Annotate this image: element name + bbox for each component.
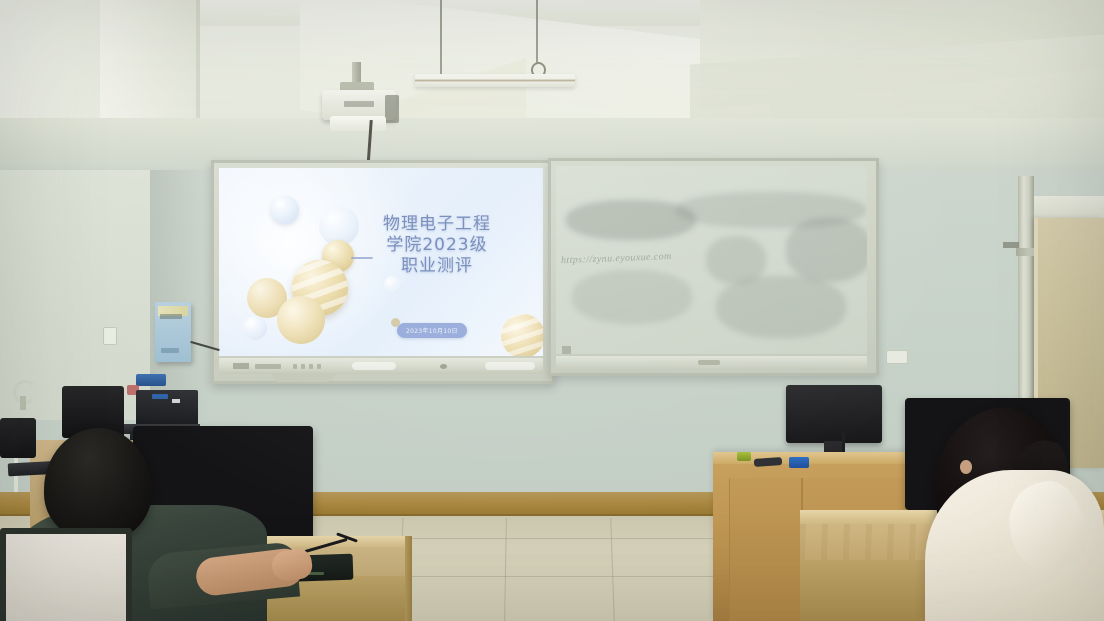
board-button-4[interactable] <box>309 364 313 369</box>
board-bottom-bulge <box>271 373 335 382</box>
podium-monitor[interactable] <box>786 385 882 443</box>
control-box-brand-logo <box>161 348 179 353</box>
left-student-chair[interactable] <box>0 528 132 621</box>
whiteboard-marker-tray[interactable] <box>556 356 867 369</box>
presentation-slide: 物理电子工程 学院2023级 职业测评 2023年10月10日 <box>219 168 543 356</box>
whiteboard[interactable]: https://zynu.eyouxue.com <box>548 158 879 376</box>
right-student-ear <box>960 460 972 474</box>
light-wire-left <box>440 0 442 76</box>
slide-sphere-right-stripe <box>501 314 543 356</box>
slide-sphere-white-bottom <box>243 316 267 340</box>
whiteboard-corner-mark <box>562 346 571 354</box>
bg-blue-small-item <box>152 394 168 399</box>
board-button-5[interactable] <box>317 364 321 369</box>
bg-rack-led <box>172 399 180 403</box>
whiteboard-smudge-3 <box>786 218 867 282</box>
control-box-label-text <box>160 314 182 319</box>
pipe-joint <box>1016 248 1036 256</box>
board-panel-mid <box>352 362 396 370</box>
slide-title-line-3: 职业测评 <box>339 256 535 277</box>
podium-green-device[interactable] <box>737 452 751 461</box>
board-button-3[interactable] <box>301 364 305 369</box>
wall-light-switch[interactable] <box>103 327 117 345</box>
left-desk-edge <box>405 536 412 621</box>
slide-sphere-tiny <box>384 276 402 294</box>
bg-monitor-far-left <box>0 418 36 458</box>
wall-outlet-plate[interactable] <box>886 350 908 364</box>
slide-date-badge: 2023年10月10日 <box>397 323 467 338</box>
board-button-2[interactable] <box>293 364 297 369</box>
slide-title-line-1: 物理电子工程 <box>339 214 535 235</box>
ceiling-light-fixture <box>415 74 575 87</box>
whiteboard-smudge-5 <box>716 276 846 338</box>
slide-sphere-white-small <box>271 196 299 224</box>
vertical-pipe <box>1018 176 1034 426</box>
wall-hook-stem <box>20 396 26 410</box>
light-wire-right <box>536 0 538 64</box>
board-button-1[interactable] <box>255 364 281 369</box>
projector-brand-label <box>344 101 374 107</box>
projection-screen[interactable]: 物理电子工程 学院2023级 职业测评 2023年10月10日 <box>211 160 555 384</box>
board-panel-right <box>485 362 535 370</box>
podium-blue-device[interactable] <box>789 457 809 468</box>
projector-lens-housing <box>330 116 386 131</box>
slide-title: 物理电子工程 学院2023级 职业测评 <box>339 214 535 277</box>
board-brand-logo <box>233 363 249 369</box>
whiteboard-surface: https://zynu.eyouxue.com <box>556 166 867 354</box>
board-ir-sensor-icon <box>440 364 447 369</box>
slide-sphere-gold-lower <box>277 296 325 344</box>
slide-title-line-2: 学院2023级 <box>339 235 535 256</box>
right-wall-top-ledge <box>1024 196 1104 220</box>
projector-vent <box>385 95 399 123</box>
whiteboard-eraser[interactable] <box>698 360 720 365</box>
classroom-photo: 物理电子工程 学院2023级 职业测评 2023年10月10日 <box>0 0 1104 621</box>
bg-blue-box <box>136 374 166 386</box>
whiteboard-control-bar[interactable] <box>219 358 543 374</box>
whiteboard-smudge-4 <box>572 270 692 324</box>
